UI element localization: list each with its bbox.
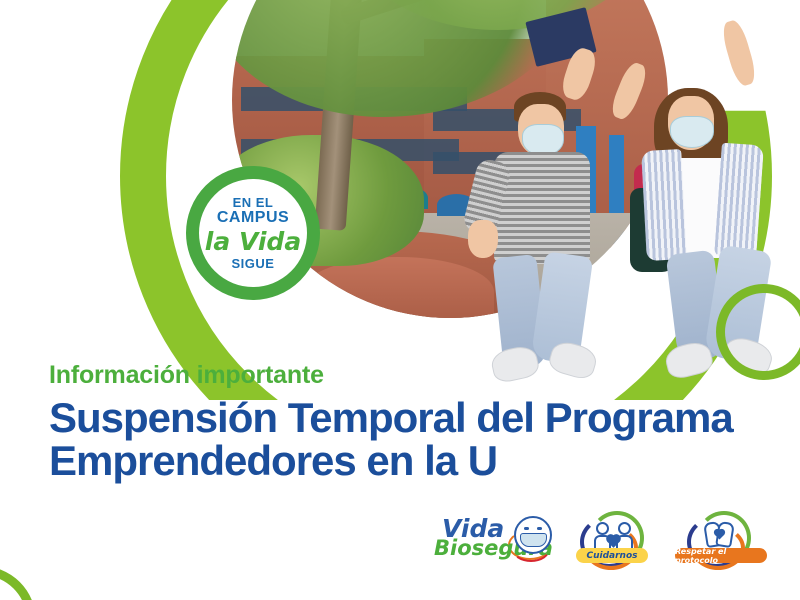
campus-badge: EN EL CAMPUS la Vida SIGUE (186, 166, 320, 300)
hero-section: EN EL CAMPUS la Vida SIGUE (0, 0, 800, 400)
cuidarnos-label: Cuidarnos (576, 548, 648, 563)
headline-block: Información importante Suspensión Tempor… (49, 362, 779, 482)
footer-logos: Vida Biosegura Cuidarnos (436, 508, 766, 580)
student-male-figure (470, 48, 620, 400)
cuidarnos-logo: Cuidarnos (566, 508, 658, 576)
striped-overshirt (714, 143, 764, 260)
eyebrow-text: Información importante (49, 362, 779, 390)
arm-up (608, 60, 650, 122)
green-arc-decoration (0, 566, 36, 600)
vida-biosegura-logo: Vida Biosegura (436, 512, 558, 570)
poster-canvas: EN EL CAMPUS la Vida SIGUE Información i… (0, 0, 800, 600)
badge-line-1: EN EL (233, 196, 274, 209)
respetar-protocolo-logo: Respetar el protocolo (673, 508, 769, 576)
page-title: Suspensión Temporal del Programa Emprend… (49, 396, 779, 483)
praying-hands-heart-icon (705, 520, 735, 550)
badge-line-4: SIGUE (232, 257, 275, 270)
hand (468, 220, 498, 258)
arm-up (719, 18, 758, 88)
badge-line-2: CAMPUS (217, 210, 289, 226)
two-people-heart-icon (594, 522, 634, 548)
face-mask-icon (670, 116, 714, 148)
badge-line-3: la Vida (205, 229, 301, 254)
respetar-label: Respetar el protocolo (675, 548, 767, 563)
striped-overshirt (641, 149, 687, 261)
masked-smiley-icon (514, 516, 552, 554)
